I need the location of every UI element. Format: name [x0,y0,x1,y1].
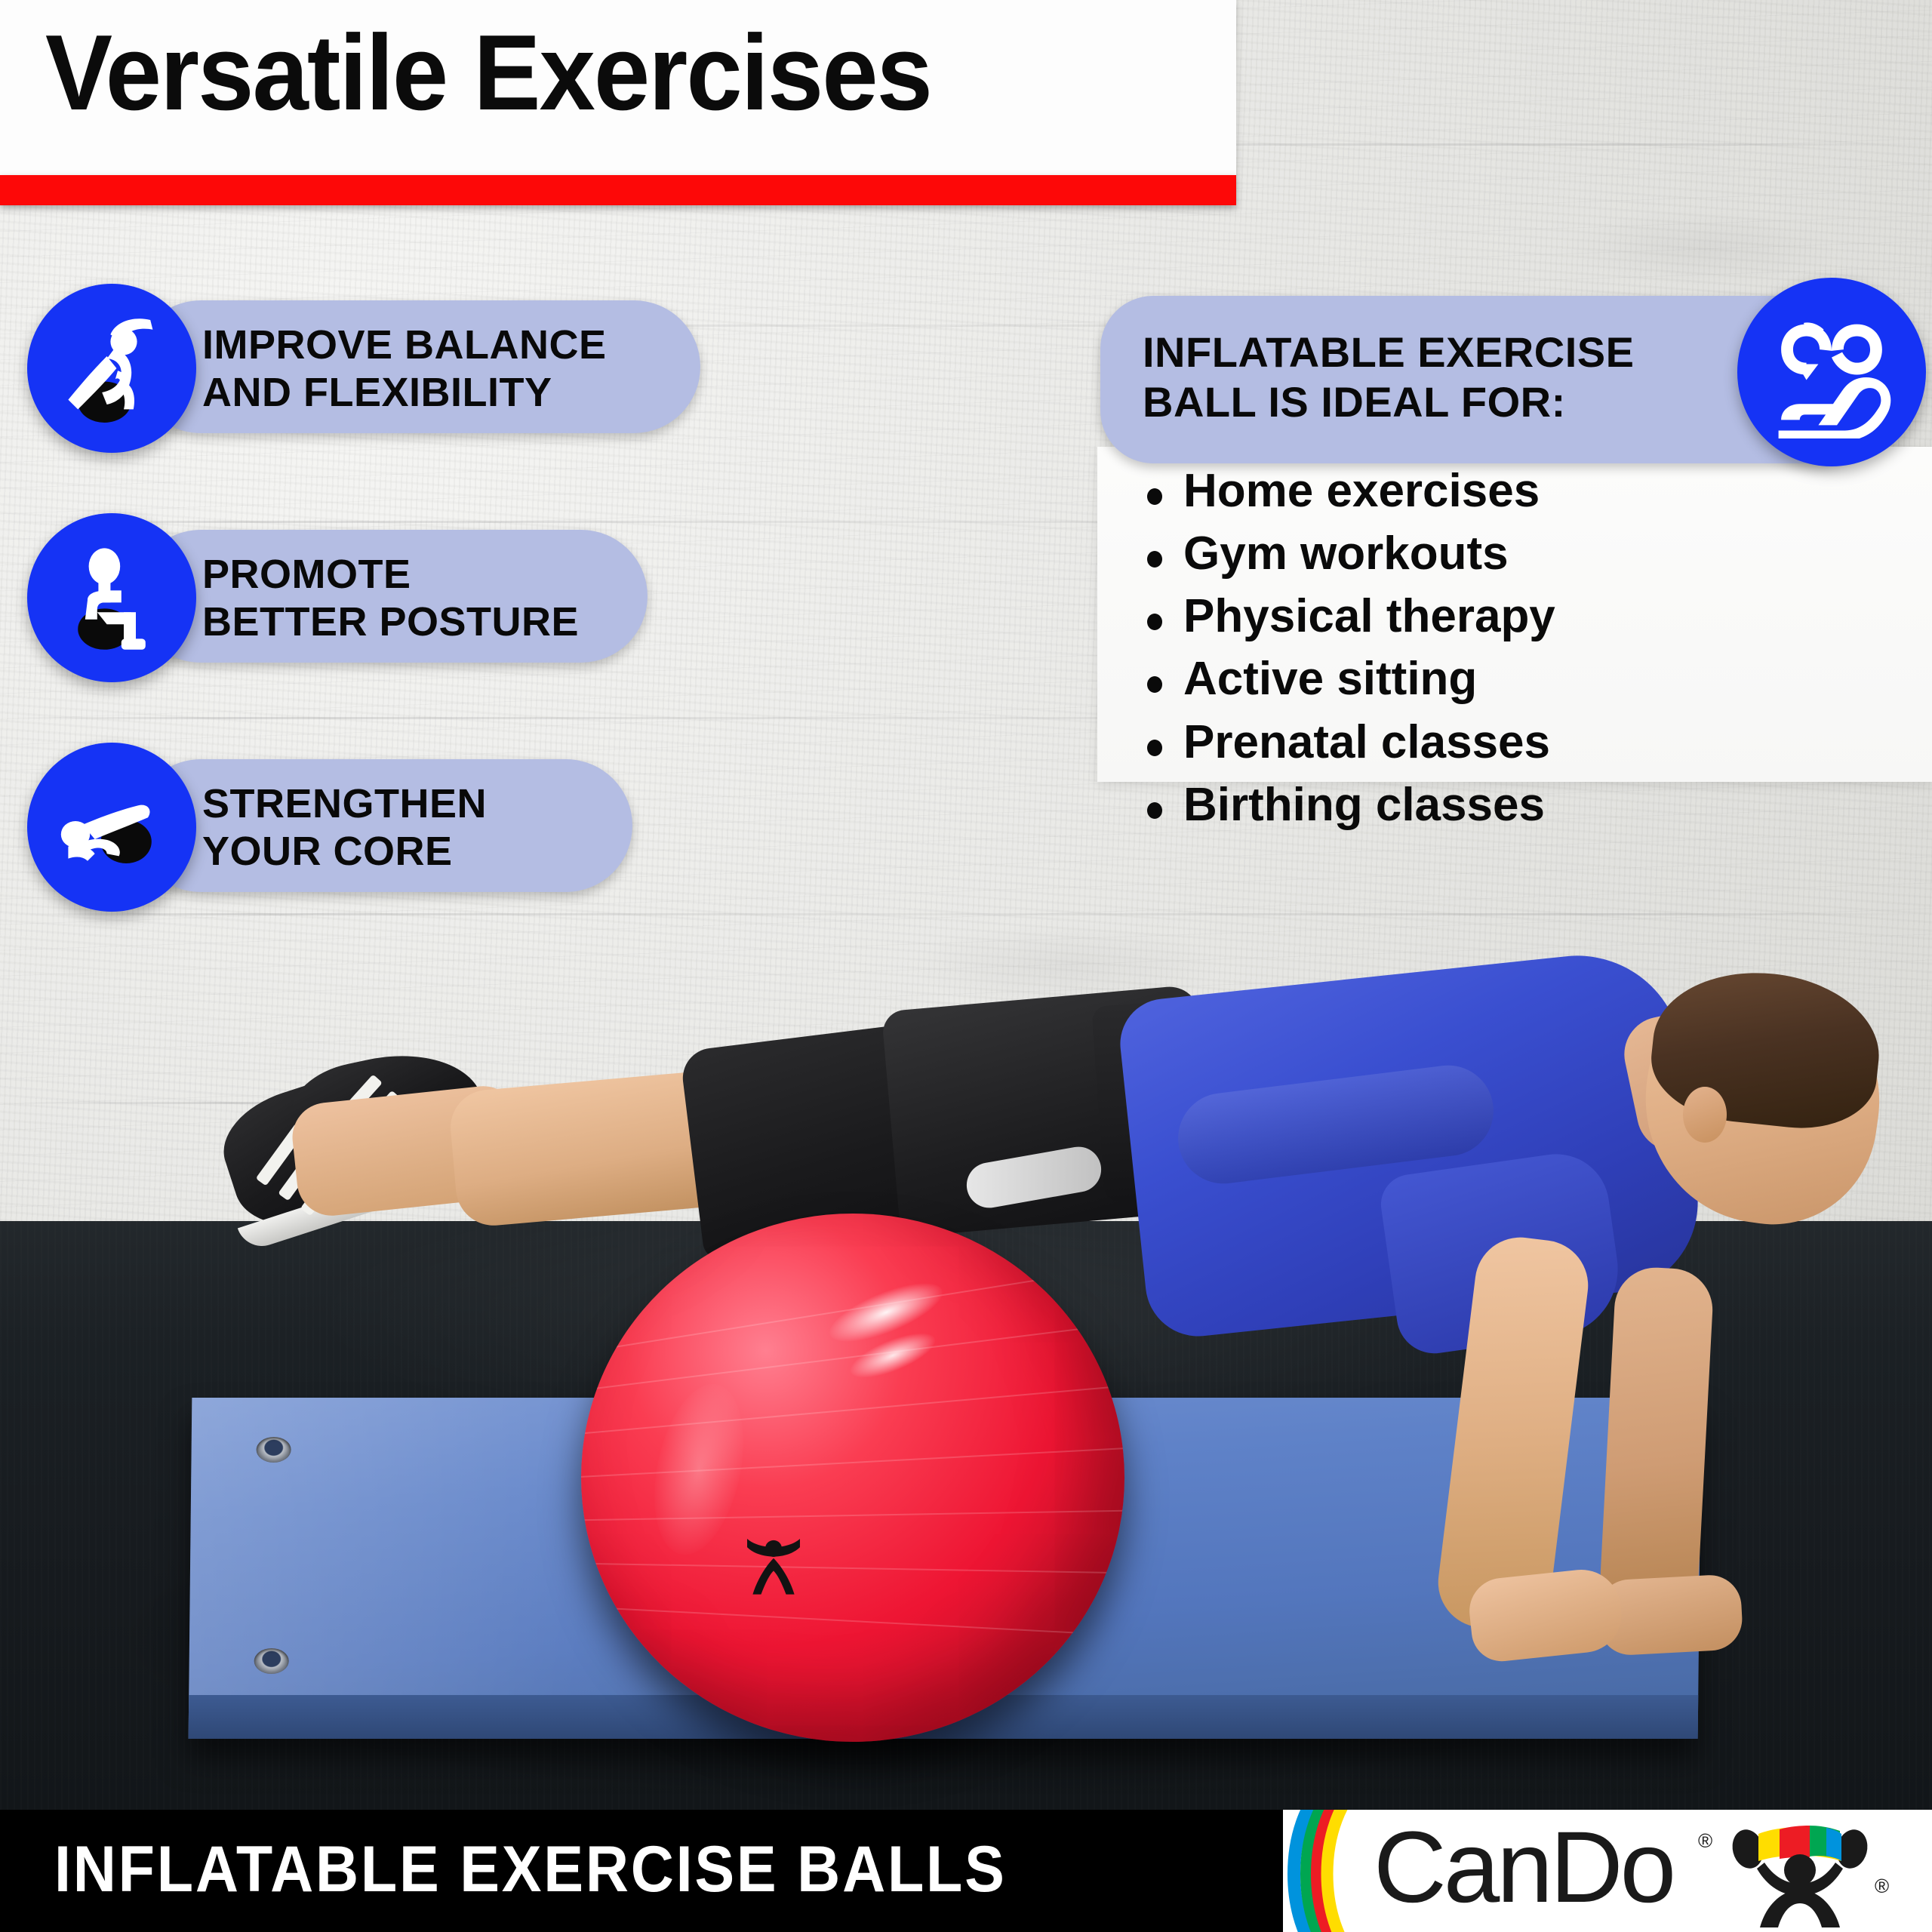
title-accent-bar [0,175,1236,205]
footer-bar: INFLATABLE EXERCISE BALLS CanDo ® ® [0,1810,1932,1932]
ideal-for-list: Home exercises Gym workouts Physical the… [1140,463,1555,840]
registered-mark: ® [1698,1829,1712,1853]
list-item: Physical therapy [1140,589,1555,644]
feature-label: PROMOTE BETTER POSTURE [202,551,685,645]
list-item: Gym workouts [1140,526,1555,581]
registered-mark: ® [1875,1875,1889,1898]
list-item: Prenatal classes [1140,715,1555,770]
feature-label: STRENGTHEN YOUR CORE [202,780,685,875]
page-title: Versatile Exercises [45,20,931,127]
infographic-canvas: Versatile Exercises IMPROVE BALANCE AND … [0,0,1932,1932]
person-upper-body [0,0,1932,1811]
list-item: Home exercises [1140,463,1555,518]
ideal-for-panel: INFLATABLE EXERCISE BALL IS IDEAL FOR: H… [1070,284,1932,845]
near-hand [1466,1566,1625,1664]
title-banner: Versatile Exercises [0,0,1236,175]
ear [1683,1087,1727,1143]
list-item: Active sitting [1140,651,1555,706]
versatile-loop-hand-icon [1737,278,1926,466]
far-arm [1598,1266,1715,1617]
seated-figure-on-ball-icon [27,513,196,682]
brand-logo-panel: CanDo ® ® [1283,1810,1932,1932]
feature-label: IMPROVE BALANCE AND FLEXIBILITY [202,321,685,416]
cando-rainbow-figure-logo [1728,1823,1872,1929]
cando-wordmark: CanDo ® ® [1374,1816,1917,1929]
product-name: INFLATABLE EXERCISE BALLS [54,1837,1007,1902]
brand-name: CanDo [1374,1817,1673,1918]
list-item: Birthing classes [1140,777,1555,832]
rainbow-arc-divider [1218,1810,1377,1932]
ideal-for-title: INFLATABLE EXERCISE BALL IS IDEAL FOR: [1143,328,1746,426]
stretching-figure-on-ball-icon [27,284,196,453]
crunch-figure-on-ball-icon [27,743,196,912]
